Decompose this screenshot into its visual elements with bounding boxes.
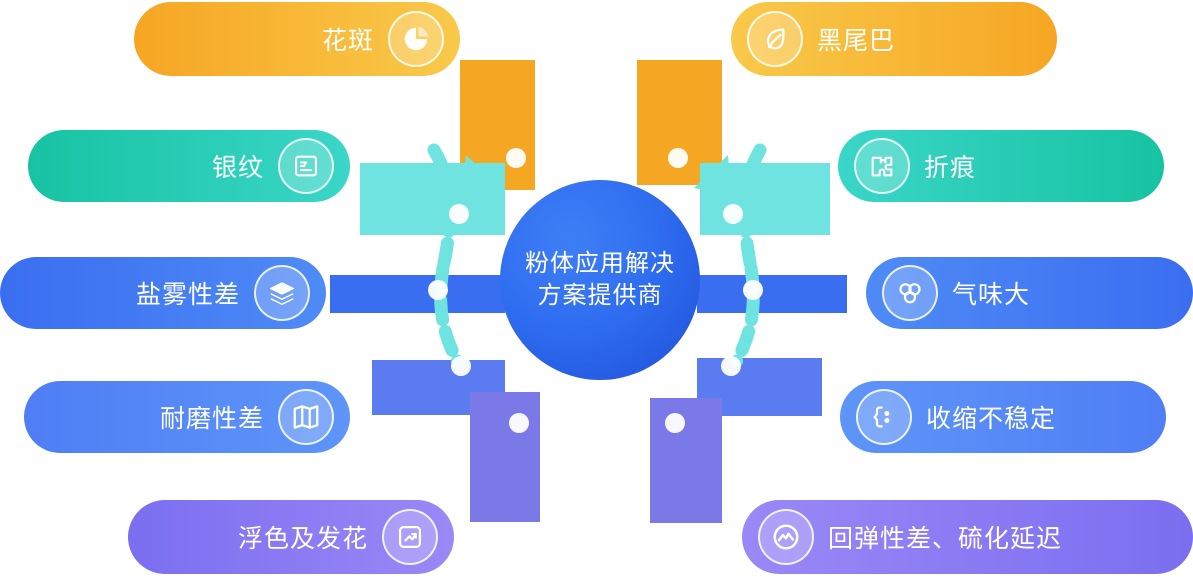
node-naimo[interactable]: 耐磨性差 (24, 381, 350, 453)
node-naimo-label: 耐磨性差 (160, 399, 264, 435)
node-yinwen[interactable]: 银纹 (28, 130, 350, 202)
node-yanwu-label: 盐雾性差 (136, 275, 240, 311)
pill-layer: 花斑 银纹 盐雾性差 (0, 0, 1193, 577)
node-yanwu[interactable]: 盐雾性差 (0, 257, 326, 329)
clover-icon (882, 265, 938, 321)
node-fuse[interactable]: 浮色及发花 (128, 500, 454, 574)
book-icon (278, 389, 334, 445)
node-qiweida[interactable]: 气味大 (866, 257, 1193, 329)
stamp-icon (278, 138, 334, 194)
node-shousuo-label: 收缩不稳定 (926, 399, 1056, 435)
node-huitan-label: 回弹性差、硫化延迟 (828, 519, 1062, 555)
node-yinwen-label: 银纹 (212, 148, 264, 184)
node-zhehen-label: 折痕 (924, 148, 976, 184)
pie-chart-icon (388, 11, 444, 67)
node-huaban[interactable]: 花斑 (134, 2, 460, 76)
puzzle-icon (854, 138, 910, 194)
node-fuse-label: 浮色及发花 (238, 519, 368, 555)
chart-line-icon (758, 509, 814, 565)
node-heiweiba-label: 黑尾巴 (817, 21, 895, 57)
node-zhehen[interactable]: 折痕 (838, 130, 1164, 202)
node-heiweiba[interactable]: 黑尾巴 (731, 2, 1057, 76)
infographic-canvas: 粉体应用解决 方案提供商 花斑 银纹 (0, 0, 1193, 577)
node-qiweida-label: 气味大 (952, 275, 1030, 311)
node-shousuo[interactable]: 收缩不稳定 (840, 381, 1166, 453)
braces-icon (856, 389, 912, 445)
leaf-icon (747, 11, 803, 67)
layers-icon (254, 265, 310, 321)
node-huitan[interactable]: 回弹性差、硫化延迟 (742, 500, 1193, 574)
node-huaban-label: 花斑 (322, 21, 374, 57)
trending-up-icon (382, 509, 438, 565)
